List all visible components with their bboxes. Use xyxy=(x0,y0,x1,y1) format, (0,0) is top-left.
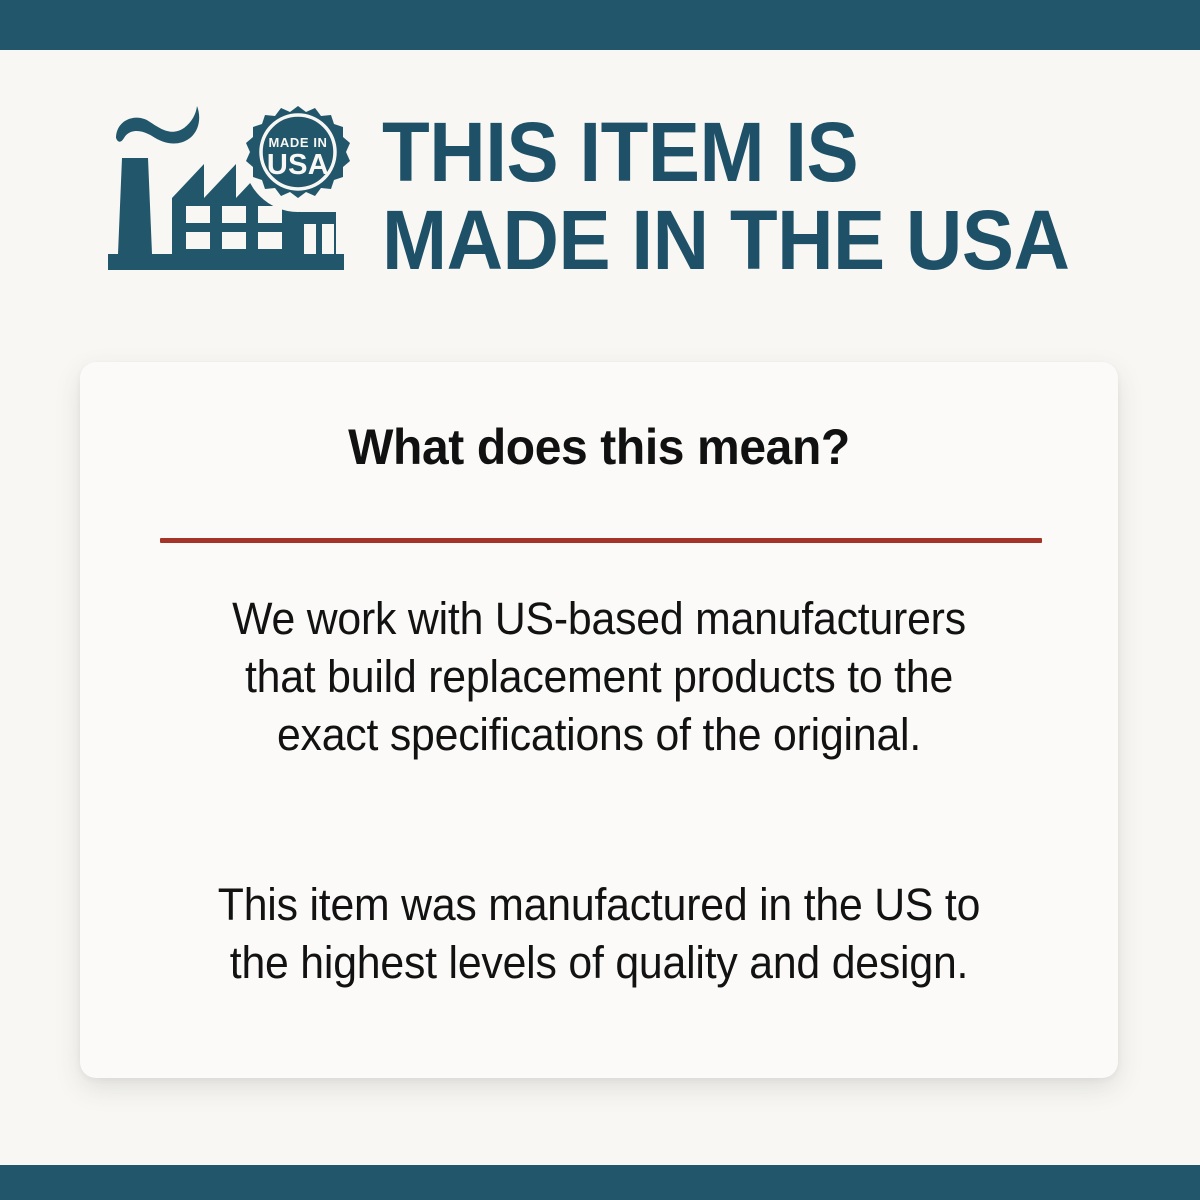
made-in-usa-badge-icon: MADE IN USA xyxy=(244,104,352,212)
page-title: THIS ITEM IS MADE IN THE USA xyxy=(382,108,1117,284)
explanation-card: What does this mean? We work with US-bas… xyxy=(80,362,1118,1078)
made-in-usa-banner: MADE IN USA THIS ITEM IS MADE IN THE USA… xyxy=(0,0,1200,1200)
bottom-accent-band xyxy=(0,1165,1200,1200)
paragraph-1-line-2: that build replacement products to the xyxy=(153,648,1044,706)
card-paragraph-2: This item was manufactured in the US to … xyxy=(153,876,1044,992)
card-heading: What does this mean? xyxy=(101,420,1097,474)
banner-header: MADE IN USA THIS ITEM IS MADE IN THE USA xyxy=(0,50,1200,300)
page-title-line-1: THIS ITEM IS xyxy=(382,108,1117,196)
paragraph-2-line-2: the highest levels of quality and design… xyxy=(153,934,1044,992)
svg-text:MADE IN: MADE IN xyxy=(268,135,327,150)
page-title-line-2: MADE IN THE USA xyxy=(382,196,1117,284)
red-divider-rule xyxy=(160,538,1042,543)
paragraph-1-line-1: We work with US-based manufacturers xyxy=(153,590,1044,648)
card-paragraph-1: We work with US-based manufacturers that… xyxy=(153,590,1044,764)
svg-text:USA: USA xyxy=(267,149,329,181)
top-accent-band xyxy=(0,0,1200,50)
paragraph-1-line-3: exact specifications of the original. xyxy=(153,706,1044,764)
paragraph-2-line-1: This item was manufactured in the US to xyxy=(153,876,1044,934)
factory-icon: MADE IN USA xyxy=(100,102,352,284)
